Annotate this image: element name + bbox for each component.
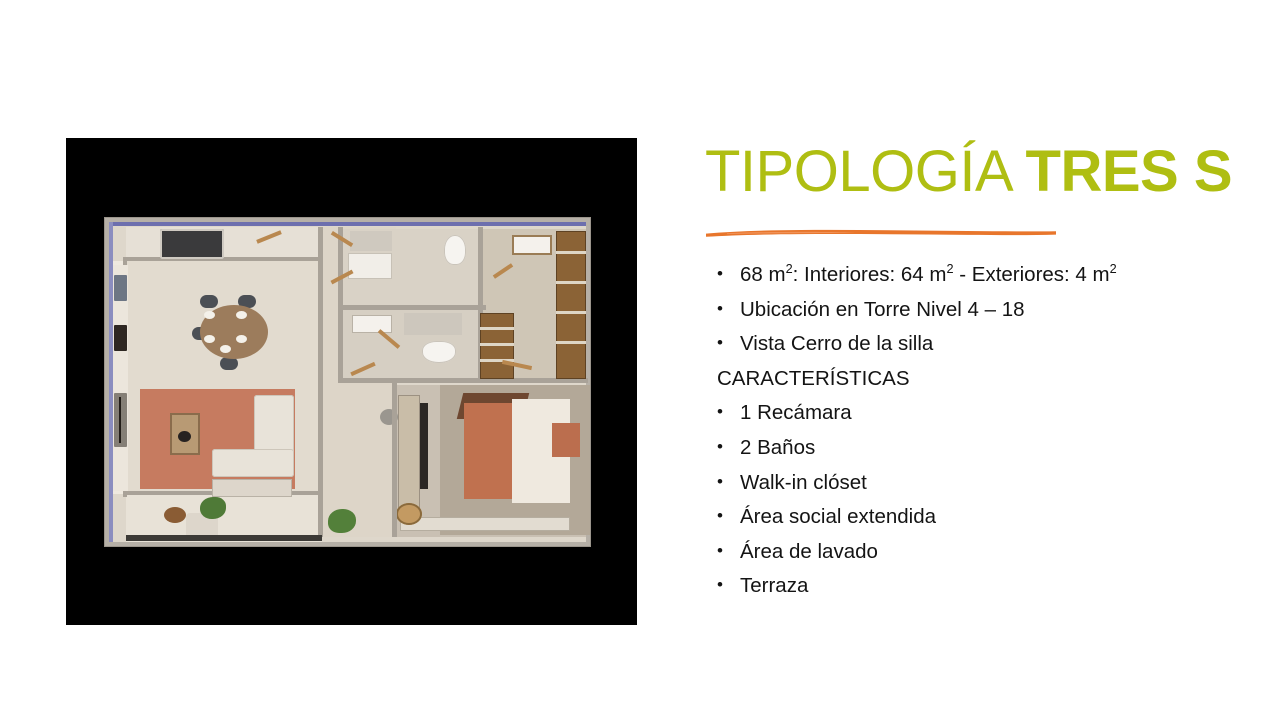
title-underline-rule	[705, 225, 1057, 238]
sofa-section	[212, 449, 294, 477]
list-item-location: Ubicación en Torre Nivel 4 – 18	[705, 293, 1225, 328]
wall-segment	[338, 305, 486, 310]
floor-plan-image	[66, 138, 637, 625]
window-glazing	[109, 222, 586, 226]
superscript-two: 2	[946, 261, 953, 276]
bathroom-sink	[352, 315, 392, 333]
list-heading-caracteristicas: CARACTERÍSTICAS	[705, 362, 1225, 397]
terrace-stool	[164, 507, 186, 523]
slide-root: TIPOLOGÍA TRES S 68 m2: Interiores: 64 m…	[0, 0, 1280, 720]
toilet-icon	[422, 341, 456, 363]
bedroom-wardrobe	[398, 395, 420, 515]
window-glazing	[109, 222, 113, 542]
list-item-laundry-area: Área de lavado	[705, 535, 1225, 570]
wall-segment	[338, 378, 588, 383]
bed-bench	[400, 517, 570, 531]
plant-icon	[328, 509, 356, 533]
terrace-railing	[126, 535, 322, 541]
list-item-closet: Walk-in clóset	[705, 466, 1225, 501]
kitchen-fridge-handle	[119, 397, 121, 443]
list-item-social-area: Área social extendida	[705, 500, 1225, 535]
feature-list: 68 m2: Interiores: 64 m2 - Exteriores: 4…	[705, 258, 1225, 604]
dining-plate	[220, 345, 231, 353]
bathroom-sink	[512, 235, 552, 255]
bedroom-rattan-chair	[396, 503, 422, 525]
dining-plate	[236, 335, 247, 343]
bedroom-desk	[420, 403, 428, 489]
list-item-bathrooms: 2 Baños	[705, 431, 1225, 466]
dining-plate	[236, 311, 247, 319]
page-title: TIPOLOGÍA TRES S	[705, 140, 1225, 204]
wall-segment	[392, 383, 397, 537]
living-console	[212, 479, 292, 497]
list-item-view: Vista Cerro de la silla	[705, 327, 1225, 362]
wall-tv	[160, 229, 224, 259]
list-item-terrace: Terraza	[705, 569, 1225, 604]
dining-chair	[200, 295, 218, 308]
closet-shelving	[480, 313, 514, 379]
floor-plan-stage	[104, 217, 591, 547]
shower-area	[350, 231, 392, 251]
closet-shelving	[556, 231, 586, 379]
superscript-two: 2	[1110, 261, 1117, 276]
list-item-area: 68 m2: Interiores: 64 m2 - Exteriores: 4…	[705, 258, 1225, 293]
superscript-two: 2	[786, 261, 793, 276]
bed-pillow	[552, 423, 580, 457]
list-item-bedrooms: 1 Recámara	[705, 396, 1225, 431]
table-decor-bowl	[178, 431, 191, 442]
dining-plate	[204, 335, 215, 343]
bath-basin	[348, 253, 392, 279]
page-title-bold: TRES S	[1026, 139, 1233, 204]
dining-plate	[204, 311, 215, 319]
text-column: TIPOLOGÍA TRES S 68 m2: Interiores: 64 m…	[705, 140, 1225, 604]
toilet-icon	[444, 235, 466, 265]
kitchen-hob	[114, 275, 127, 301]
plant-icon	[200, 497, 226, 519]
kitchen-sink	[114, 325, 127, 351]
page-title-regular: TIPOLOGÍA	[705, 139, 1026, 204]
shower-area	[404, 313, 462, 335]
bed-blanket	[464, 403, 512, 499]
